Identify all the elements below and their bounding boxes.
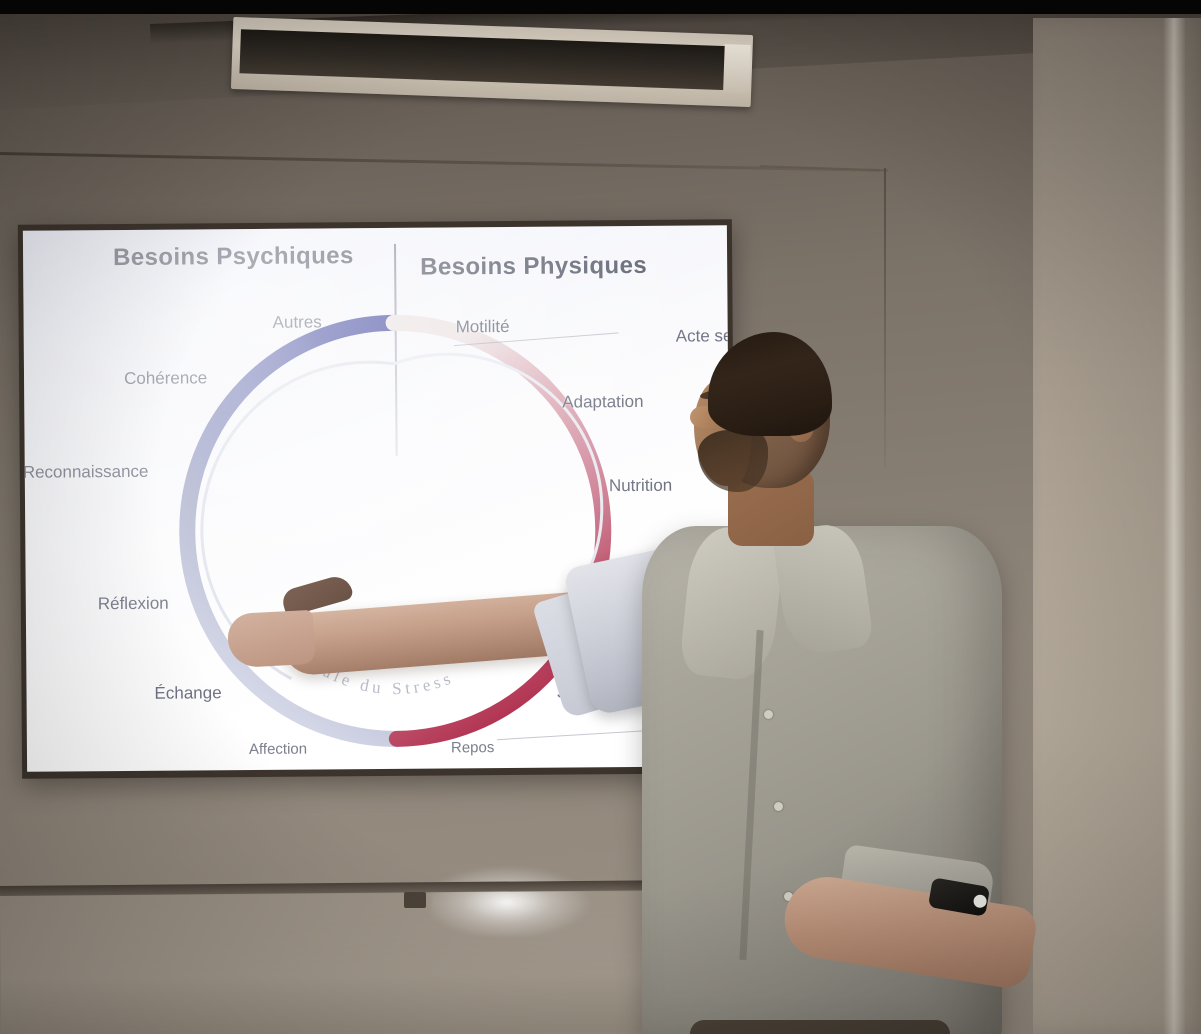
beard [698, 430, 768, 492]
wall-corner-highlight [1163, 18, 1185, 1034]
slide-label-reconnaissance: Reconnaissance [23, 462, 149, 483]
letterbox-bar-top [0, 0, 1201, 14]
photograph: Besoins Psychiques Besoins Physiques [0, 0, 1201, 1034]
trousers [690, 1020, 950, 1034]
slide-label-reflexion: Réflexion [98, 594, 169, 615]
slide-label-coherence: Cohérence [124, 368, 207, 389]
wristwatch-face [973, 894, 988, 909]
shirt-button [774, 802, 783, 811]
window-light-reflection-glare [430, 866, 590, 936]
slide-label-affection: Affection [249, 741, 307, 758]
shirt-button [764, 710, 773, 719]
hair [708, 332, 832, 436]
slide-label-autres: Autres [273, 312, 322, 332]
presenter [612, 330, 1082, 1034]
slide-header-psychic: Besoins Psychiques [113, 242, 354, 272]
blind-end-cap [723, 44, 751, 93]
needs-ring-diagram: La Spirale du Stress [168, 304, 622, 758]
pointing-hand [227, 610, 316, 668]
wall-ledge-bracket [404, 892, 426, 908]
slide-label-echange: Échange [154, 683, 221, 704]
slide-header-physical: Besoins Physiques [420, 252, 647, 282]
blind-slat [239, 29, 726, 90]
slide-label-motilite: Motilité [456, 317, 510, 337]
slide-label-repos: Repos [451, 739, 494, 756]
